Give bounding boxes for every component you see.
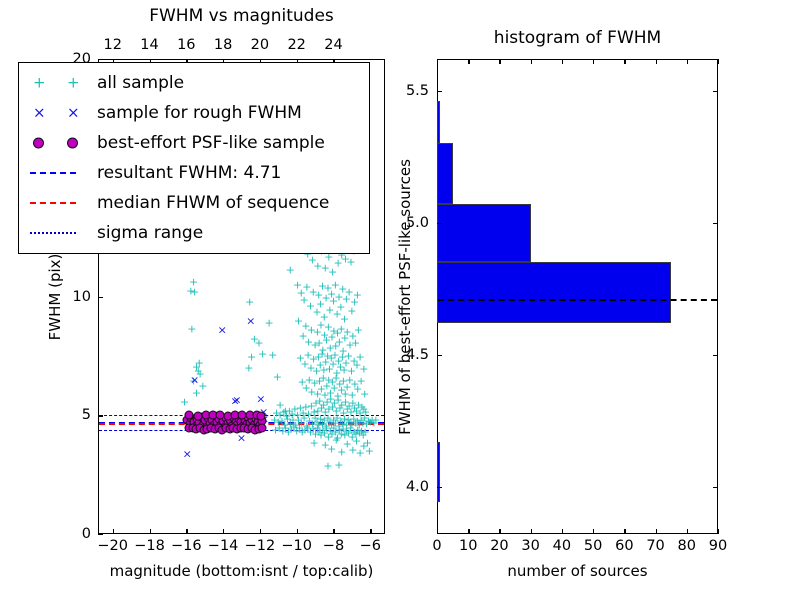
hist-x-tick-mark — [656, 529, 657, 534]
hist-x-tick-label: 50 — [584, 538, 602, 554]
hist-x-tick-label: 80 — [678, 538, 696, 554]
hist-x-tick-mark — [531, 529, 532, 534]
hist-y-tick-mark — [437, 91, 442, 92]
hist-y-tick-mark — [437, 487, 442, 488]
right-plot-title: histogram of FWHM — [494, 28, 661, 48]
right-x-axis-label: number of sources — [507, 562, 647, 580]
hist-x-tick-label: 90 — [709, 538, 727, 554]
hist-y-tick-mark-right — [713, 223, 718, 224]
hist-x-tick-mark — [468, 529, 469, 534]
hist-x-tick-mark-top — [562, 59, 563, 64]
hist-y-tick-label: 5.5 — [406, 83, 429, 99]
legend-item-3[interactable]: resultant FWHM: 4.71 — [19, 159, 369, 187]
hist-x-tick-label: 40 — [553, 538, 571, 554]
legend-marker-plus-icon: + — [33, 76, 46, 91]
figure-canvas: FWHM vs magnitudes++++++++++++++++++++++… — [0, 0, 800, 600]
hist-x-tick-mark — [437, 529, 438, 534]
hist-x-tick-mark — [593, 529, 594, 534]
legend-marker-plus-icon: + — [67, 76, 80, 91]
hist-y-tick-label: 4.0 — [406, 479, 429, 495]
legend-item-label: all sample — [97, 73, 184, 93]
hist-x-tick-label: 60 — [615, 538, 633, 554]
legend-marker-line-icon — [30, 202, 76, 204]
legend-item-label: best-effort PSF-like sample — [97, 133, 325, 153]
legend-marker-line-icon — [30, 232, 76, 234]
hist-y-tick-mark-right — [713, 91, 718, 92]
right-y-axis-label: FWHM of best-effort PSF-like sources — [396, 159, 414, 435]
hist-x-tick-mark — [718, 529, 719, 534]
legend-item-label: sigma range — [97, 223, 203, 243]
plot-legend: ++all sample××sample for rough FWHMbest-… — [18, 62, 370, 254]
legend-item-label: median FHWM of sequence — [97, 193, 329, 213]
hist-x-tick-label: 0 — [432, 538, 441, 554]
hist-x-tick-mark — [499, 529, 500, 534]
hist-x-tick-label: 20 — [490, 538, 508, 554]
hist-x-tick-mark-top — [593, 59, 594, 64]
histogram-bar — [437, 101, 440, 143]
hist-x-tick-label: 10 — [459, 538, 477, 554]
histogram-bar — [437, 143, 453, 204]
histogram-bar — [437, 262, 671, 323]
hist-y-tick-mark-right — [713, 355, 718, 356]
hist-x-tick-mark-top — [687, 59, 688, 64]
hist-x-tick-mark-top — [624, 59, 625, 64]
hist-y-tick-mark — [437, 223, 442, 224]
legend-item-label: resultant FWHM: 4.71 — [97, 163, 281, 183]
histogram-median-line — [438, 299, 717, 301]
hist-x-tick-mark-top — [499, 59, 500, 64]
hist-x-tick-mark-top — [531, 59, 532, 64]
hist-x-tick-mark — [562, 529, 563, 534]
hist-x-tick-mark-top — [718, 59, 719, 64]
legend-item-2[interactable]: best-effort PSF-like sample — [19, 129, 369, 157]
legend-marker-line-icon — [30, 172, 76, 174]
hist-y-tick-mark-right — [713, 487, 718, 488]
legend-marker-dot-icon — [33, 138, 44, 149]
hist-x-tick-mark-top — [656, 59, 657, 64]
histogram-bar — [437, 204, 531, 262]
legend-item-label: sample for rough FWHM — [97, 103, 302, 123]
legend-marker-cross-icon: × — [33, 106, 46, 121]
hist-x-tick-label: 70 — [646, 538, 664, 554]
legend-item-0[interactable]: ++all sample — [19, 69, 369, 97]
legend-item-1[interactable]: ××sample for rough FWHM — [19, 99, 369, 127]
hist-x-tick-mark-top — [468, 59, 469, 64]
legend-marker-dot-icon — [67, 138, 78, 149]
hist-x-tick-mark — [687, 529, 688, 534]
histogram-bar — [437, 442, 440, 503]
hist-x-tick-mark-top — [437, 59, 438, 64]
legend-item-4[interactable]: median FHWM of sequence — [19, 189, 369, 217]
legend-item-5[interactable]: sigma range — [19, 219, 369, 247]
hist-x-tick-mark — [624, 529, 625, 534]
hist-y-tick-mark — [437, 355, 442, 356]
hist-x-tick-label: 30 — [521, 538, 539, 554]
legend-marker-cross-icon: × — [67, 106, 80, 121]
